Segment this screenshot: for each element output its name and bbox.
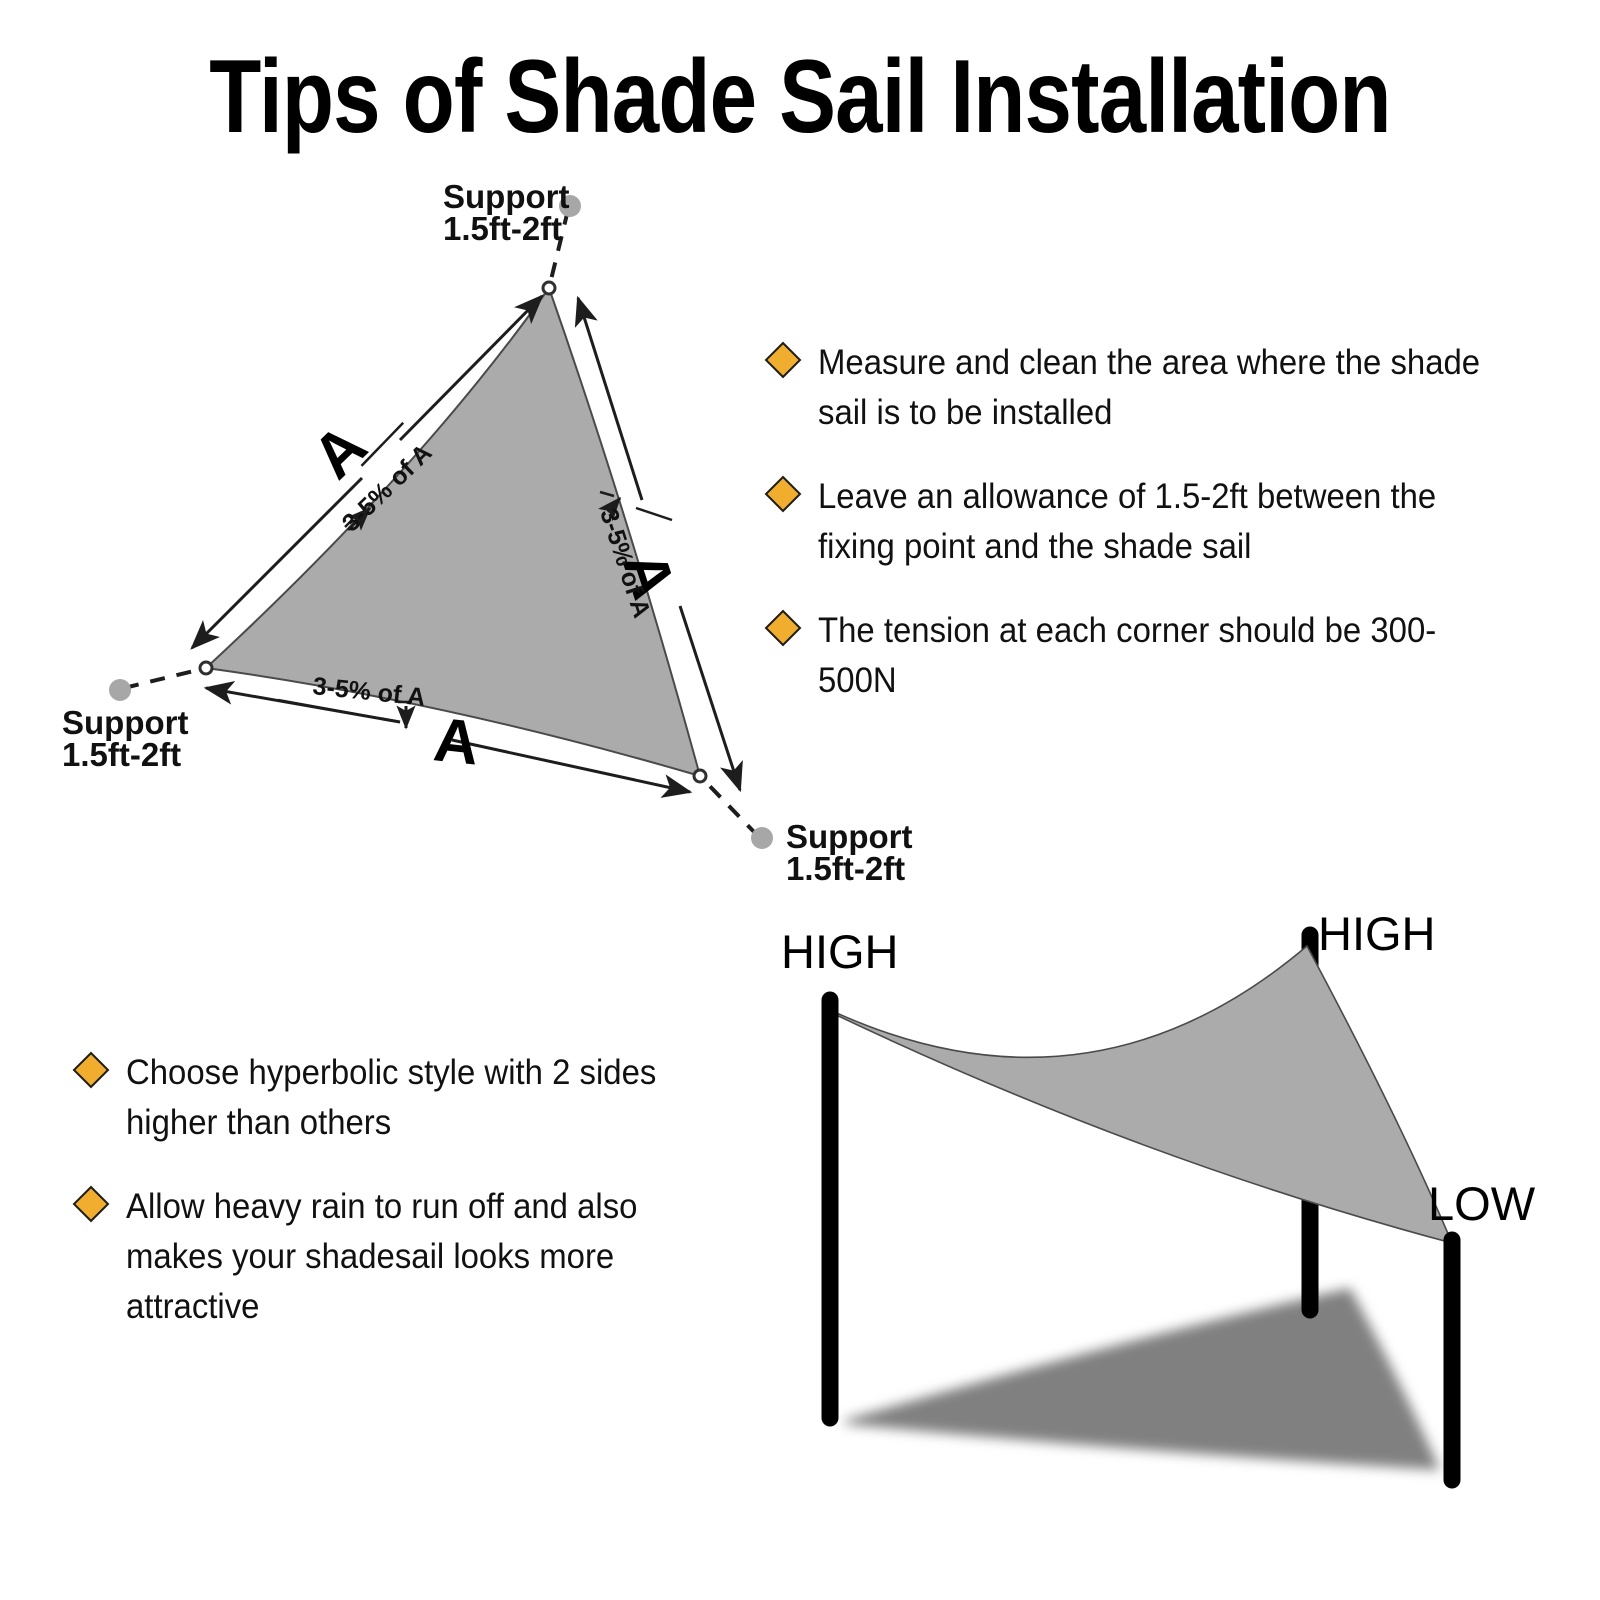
list-item: Leave an allowance of 1.5-2ft between th… xyxy=(770,472,1530,572)
support-label-left-line1: Support xyxy=(62,704,188,741)
pole-label-low-right: LOW xyxy=(1428,1177,1536,1230)
list-item: Allow heavy rain to run off and also mak… xyxy=(78,1182,778,1332)
tips-list-bottom: Choose hyperbolic style with 2 sides hig… xyxy=(78,1048,778,1366)
infographic-page: Tips of Shade Sail Installation xyxy=(0,0,1600,1600)
grommet-top xyxy=(543,282,555,294)
tether-bottom-right xyxy=(700,776,758,836)
edge-label-A-bottom: A xyxy=(431,705,483,778)
tip-text: The tension at each corner should be 300… xyxy=(818,606,1487,706)
dimension-arrow-right-upper xyxy=(578,298,642,500)
gap-arrow-right xyxy=(608,498,620,512)
tip-text: Measure and clean the area where the sha… xyxy=(818,338,1487,438)
grommet-bottom-right xyxy=(694,770,706,782)
list-item: The tension at each corner should be 300… xyxy=(770,606,1530,706)
edge-label-A-right: A xyxy=(609,543,688,607)
diamond-bullet-icon xyxy=(765,342,802,379)
tip-text: Leave an allowance of 1.5-2ft between th… xyxy=(818,472,1487,572)
diamond-bullet-icon xyxy=(765,610,802,647)
grommet-left xyxy=(200,662,212,674)
support-dot-left xyxy=(109,679,131,701)
edge-tolerance-bottom: 3-5% of A xyxy=(311,672,426,712)
tether-top xyxy=(549,210,568,288)
dimension-arrow-bottom-left xyxy=(206,688,400,722)
pole-label-high-right: HIGH xyxy=(1318,907,1436,960)
sail-ground-shadow xyxy=(845,1288,1440,1470)
dimension-arrow-bottom-right xyxy=(452,740,690,792)
support-label-left-line2: 1.5ft-2ft xyxy=(62,736,181,773)
dimension-arrow-left-upper xyxy=(400,296,542,440)
hyperbolic-sail-shape xyxy=(830,946,1452,1243)
diamond-bullet-icon xyxy=(73,1052,110,1089)
support-label-top-line2: 1.5ft-2ft xyxy=(443,210,562,247)
page-title: Tips of Shade Sail Installation xyxy=(144,42,1456,152)
diamond-bullet-icon xyxy=(765,476,802,513)
tick-right-outer xyxy=(636,508,672,520)
pole-label-high-left: HIGH xyxy=(781,925,899,978)
support-dot-bottom-right xyxy=(751,827,773,849)
tether-left xyxy=(124,668,206,688)
shade-sail-shape xyxy=(206,288,700,776)
tip-text: Allow heavy rain to run off and also mak… xyxy=(126,1182,739,1332)
diamond-bullet-icon xyxy=(73,1186,110,1223)
tick-left-outer xyxy=(361,423,404,466)
list-item: Choose hyperbolic style with 2 sides hig… xyxy=(78,1048,778,1148)
support-dot-top xyxy=(559,195,581,217)
edge-tolerance-right: 3-5% of A xyxy=(594,505,656,621)
tick-bottom-outer xyxy=(278,700,400,722)
support-label-br-line2: 1.5ft-2ft xyxy=(786,850,905,887)
dimension-arrow-left-lower xyxy=(192,478,362,648)
tick-right-inner xyxy=(600,492,614,496)
tip-text: Choose hyperbolic style with 2 sides hig… xyxy=(126,1048,739,1148)
list-item: Measure and clean the area where the sha… xyxy=(770,338,1530,438)
edge-label-A-left: A xyxy=(300,411,380,492)
gap-arrow-left xyxy=(348,508,370,530)
edge-tolerance-left: 3-5% of A xyxy=(337,439,438,538)
support-label-top-line1: Support xyxy=(443,178,569,215)
support-label-br-line1: Support xyxy=(786,818,912,855)
tips-list-top: Measure and clean the area where the sha… xyxy=(770,338,1530,740)
tick-left-inner xyxy=(345,519,353,527)
dimension-arrow-right-lower xyxy=(680,606,740,790)
